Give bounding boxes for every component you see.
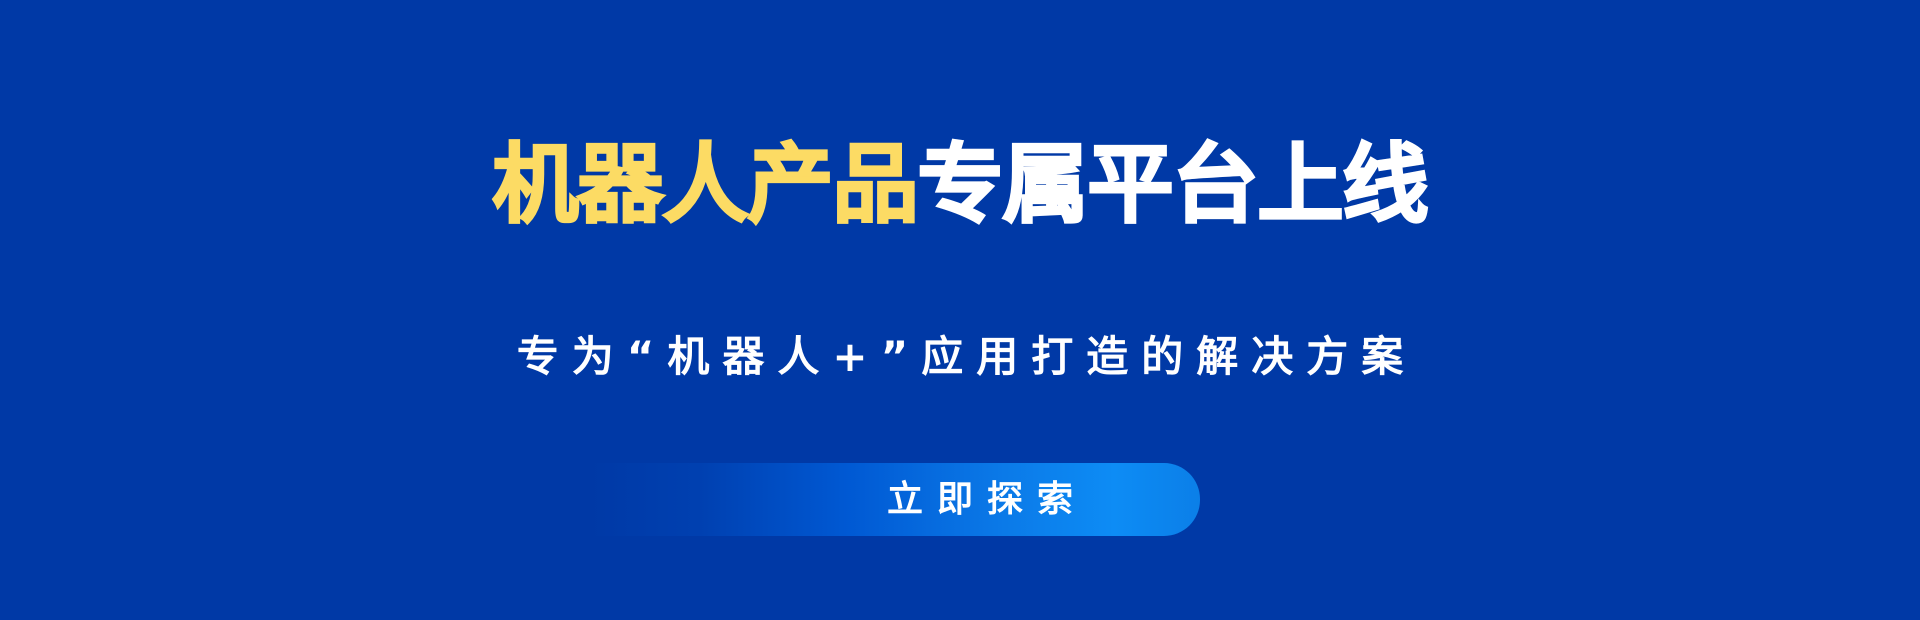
page-title-rest: 专属平台上线 [918,135,1428,235]
cta-container: 立即探索 [590,463,1200,536]
hero-banner: 机器人产品专属平台上线 专为“机器人+”应用打造的解决方案 立即探索 [0,0,1920,620]
page-title-highlight: 机器人产品 [493,135,918,235]
page-title: 机器人产品专属平台上线 [0,126,1920,244]
explore-now-button[interactable]: 立即探索 [590,463,1200,536]
page-subtitle: 专为“机器人+”应用打造的解决方案 [0,326,1920,388]
